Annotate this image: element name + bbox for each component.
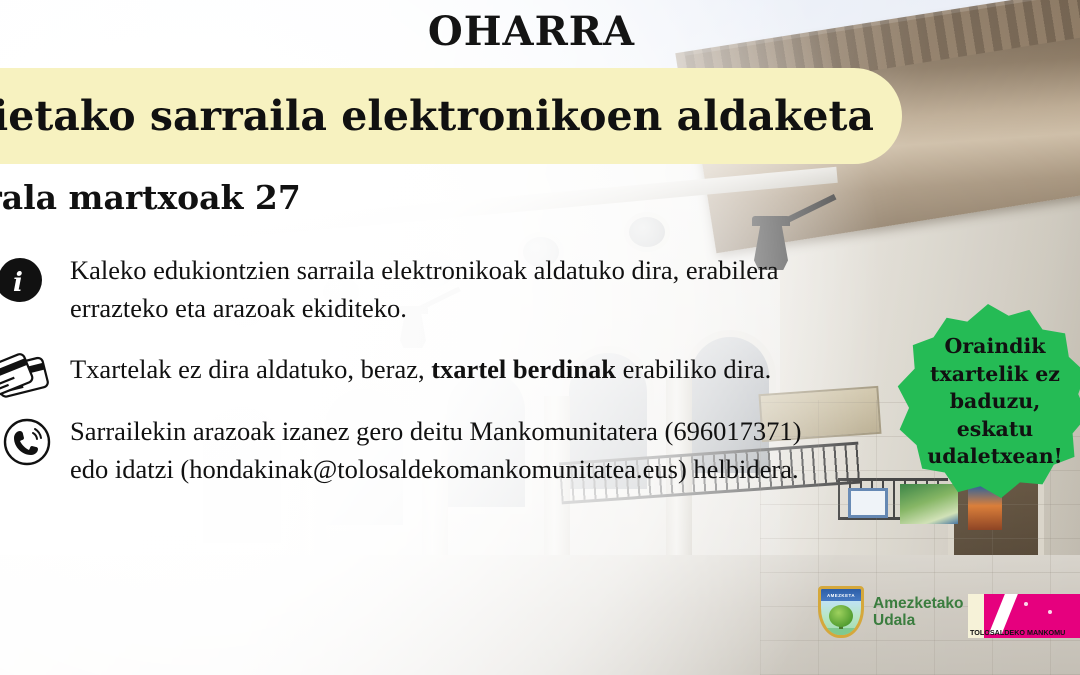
udala-name-line2: Udala [873,612,963,629]
mankomunitatea-dot [1048,610,1052,614]
card-icon [0,351,44,403]
poster-canvas: OHARRA dukiontzietako sarraila elektroni… [0,0,1080,675]
bullet-list: i Kaleko edukiontzien sarraila elektroni… [0,252,820,512]
svg-text:i: i [13,268,23,298]
list-item: i Kaleko edukiontzien sarraila elektroni… [0,252,820,327]
page-title: OHARRA [0,8,1063,55]
status-badge: Oraindik txartelik ez baduzu, eskatu uda… [894,304,1080,500]
crest-shield: AMEZKETA [818,586,864,638]
crest-band-text: AMEZKETA [827,593,855,598]
udala-logo: AMEZKETA Amezketako Udala [818,586,963,638]
info-icon: i [0,254,50,306]
banner-title-text: dukiontzietako sarraila elektronikoen al… [0,92,874,140]
crest-ground [821,628,861,635]
udala-name: Amezketako Udala [873,595,963,630]
phone-icon [2,417,60,469]
crest-tree-canopy [829,605,853,627]
banner-title-pill: dukiontzietako sarraila elektronikoen al… [0,68,902,164]
crest-band: AMEZKETA [821,589,861,601]
card-text-before: Txartelak ez dira aldatuko, beraz, [70,354,431,384]
date-line: stirala martxoak 27 [0,178,301,217]
content-layer: OHARRA dukiontzietako sarraila elektroni… [0,0,1080,675]
card-text-after: erabiliko dira. [616,354,771,384]
status-badge-text: Oraindik txartelik ez baduzu, eskatu uda… [904,333,1072,470]
list-item-text: Kaleko edukiontzien sarraila elektroniko… [70,252,820,327]
mankomunitatea-caption: TOLOSALDEKO MANKOMU [968,628,1080,637]
mankomunitatea-dot [1024,602,1028,606]
list-item-text: Sarrailekin arazoak izanez gero deitu Ma… [70,413,820,488]
list-item: Txartelak ez dira aldatuko, beraz, txart… [0,351,820,389]
list-item-text: Txartelak ez dira aldatuko, beraz, txart… [70,351,820,389]
udala-name-line1: Amezketako [873,595,963,612]
card-text-bold: txartel berdinak [431,354,616,384]
list-item: Sarrailekin arazoak izanez gero deitu Ma… [0,413,820,488]
amezketa-crest-icon: AMEZKETA [818,586,864,638]
mankomunitatea-logo: TOLOSALDEKO MANKOMU [968,594,1080,638]
